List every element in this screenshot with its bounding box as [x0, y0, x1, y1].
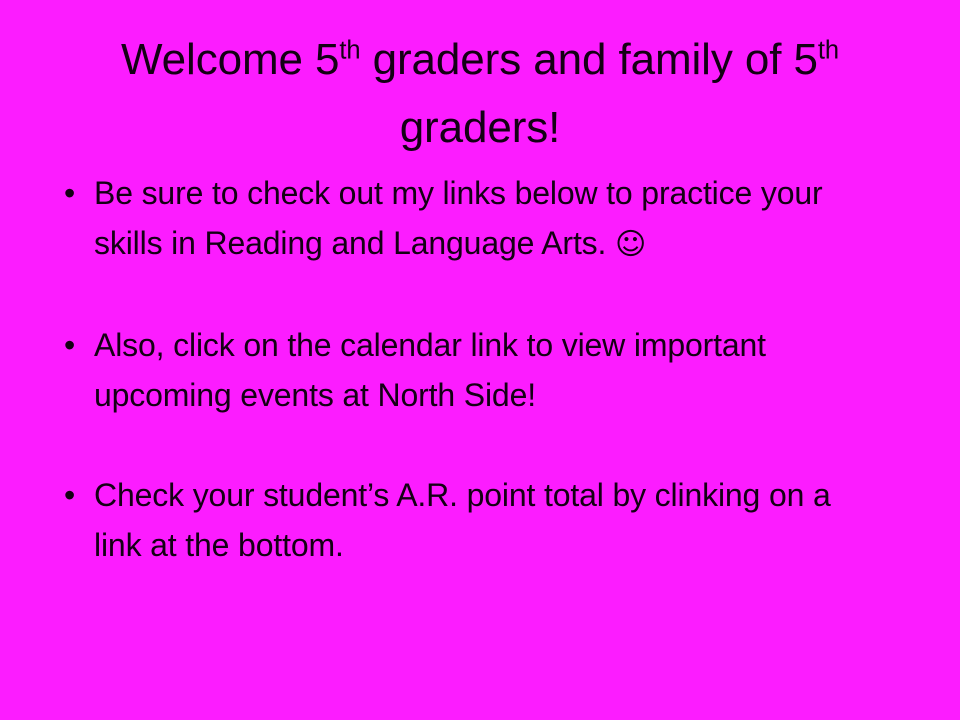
title-superscript-1: th [339, 36, 360, 64]
bullet-text: Be sure to check out my links below to p… [94, 168, 866, 270]
bullet-marker-icon: • [64, 320, 102, 370]
title-segment-1: Welcome 5 [121, 35, 339, 84]
title-segment-2: graders and family of 5 [360, 35, 817, 84]
title-line-2: graders! [60, 94, 900, 162]
bullet-text: Also, click on the calendar link to view… [94, 320, 866, 420]
bullet-marker-icon: • [64, 168, 102, 218]
bullet-marker-icon: • [64, 470, 102, 520]
list-item: • Check your student’s A.R. point total … [56, 470, 866, 570]
list-item: • Be sure to check out my links below to… [56, 168, 866, 270]
bullet-text: Check your student’s A.R. point total by… [94, 470, 866, 570]
title-superscript-2: th [818, 36, 839, 64]
slide-title: Welcome 5th graders and family of 5th gr… [60, 26, 900, 162]
presentation-slide: Welcome 5th graders and family of 5th gr… [0, 0, 960, 720]
smiley-face-icon: ☺ [615, 227, 646, 262]
bullet-list: • Be sure to check out my links below to… [56, 168, 866, 570]
bullet-body-text: Be sure to check out my links below to p… [94, 175, 823, 261]
list-item: • Also, click on the calendar link to vi… [56, 320, 866, 420]
